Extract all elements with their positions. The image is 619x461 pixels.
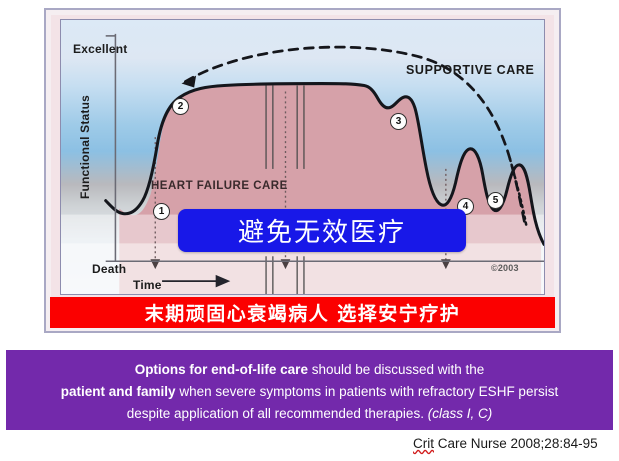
recommendation-line-3: despite application of all recommended t… [20, 403, 599, 425]
supportive-care-label: SUPPORTIVE CARE [406, 63, 534, 77]
recommendation-line-2: patient and family when severe symptoms … [20, 381, 599, 403]
recommendation-line-1: Options for end-of-life care should be d… [20, 359, 599, 381]
red-banner-text: 末期顽固心衰竭病人 选择安宁疗护 [145, 299, 461, 326]
y-axis-top-label: Excellent [73, 42, 128, 56]
recommendation-line-3-rest: despite application of all recommended t… [127, 406, 428, 421]
blue-callout-text: 避免无效医疗 [238, 212, 406, 249]
citation-rest: Care Nurse 2008;28:84-95 [434, 436, 598, 451]
figure-frame: Excellent Death Time Functional Status S… [44, 8, 561, 333]
recommendation-line-1-rest: should be discussed with the [308, 362, 484, 377]
event-marker-5: 5 [487, 192, 504, 209]
recommendation-line-1-bold: Options for end-of-life care [135, 362, 308, 377]
recommendation-line-2-rest: when severe symptoms in patients with re… [176, 384, 559, 399]
heart-failure-care-label: HEART FAILURE CARE [151, 180, 288, 192]
event-marker-3: 3 [390, 113, 407, 130]
recommendation-callout: Options for end-of-life care should be d… [6, 350, 613, 430]
red-banner: 末期顽固心衰竭病人 选择安宁疗护 [50, 297, 555, 328]
copyright-notice: ©2003 [491, 263, 519, 273]
chart-svg [61, 20, 544, 294]
citation: Crit Care Nurse 2008;28:84-95 [413, 436, 598, 451]
blue-callout-box: 避免无效医疗 [178, 209, 466, 252]
event-marker-2: 2 [172, 98, 189, 115]
figure-inner: Excellent Death Time Functional Status S… [51, 15, 554, 326]
supportive-care-arrowhead [182, 76, 197, 88]
y-axis-bottom-label: Death [92, 262, 126, 276]
y-axis-title: Functional Status [78, 92, 92, 202]
event-marker-1: 1 [153, 203, 170, 220]
functional-status-chart: Excellent Death Time Functional Status S… [60, 19, 545, 295]
recommendation-line-2-bold: patient and family [61, 384, 176, 399]
x-axis-title: Time [133, 278, 162, 292]
citation-misspelled-word: Crit [413, 436, 434, 451]
recommendation-class-of-evidence: (class I, C) [428, 406, 493, 421]
